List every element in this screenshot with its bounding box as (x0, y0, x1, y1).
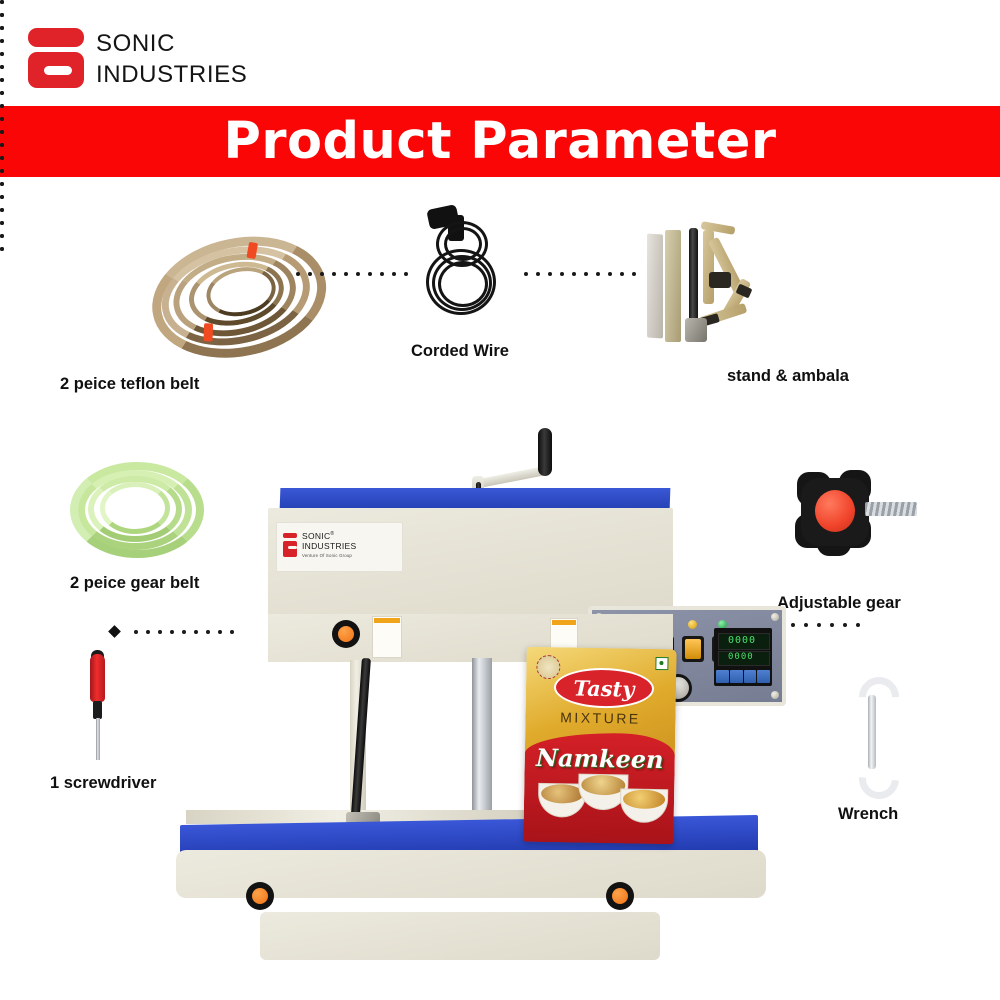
conveyor-base-stand (260, 912, 660, 960)
stand-bracket-icon (645, 222, 790, 352)
connector-stand-vertical (0, 260, 5, 520)
nameplate-logo-icon (283, 533, 297, 559)
brand-header: SONIC INDUSTRIES (0, 0, 1000, 106)
label-screwdriver: 1 screwdriver (50, 774, 156, 793)
continuous-band-sealer: SONIC® INDUSTRIES Venture Of Sonic Group (150, 420, 870, 990)
brand-line-2: INDUSTRIES (96, 59, 247, 90)
label-teflon-belt: 2 peice teflon belt (60, 375, 199, 394)
sonic-s-logo-icon (28, 28, 84, 88)
label-corded-wire: Corded Wire (411, 342, 509, 361)
nameplate-text: SONIC® INDUSTRIES (302, 529, 356, 552)
page-title: Product Parameter (223, 112, 776, 171)
label-stand-ambala: stand & ambala (727, 367, 849, 386)
conveyor-knob-right[interactable] (606, 882, 634, 910)
connector-diamond-marker (108, 625, 121, 638)
machine-nameplate: SONIC® INDUSTRIES Venture Of Sonic Group (276, 522, 403, 572)
brand-name: SONIC INDUSTRIES (96, 28, 247, 90)
upper-belt-guard (280, 488, 671, 510)
teflon-belt-coil-icon (141, 225, 319, 361)
vegetarian-mark-icon (655, 657, 668, 670)
screwdriver-icon (82, 645, 112, 760)
controller-set-value: 0000 (728, 652, 754, 662)
bag-brand-text: Tasty (573, 675, 634, 701)
heater-indicator-light (688, 620, 697, 629)
height-adjust-knob[interactable] (332, 620, 360, 648)
controller-buttons[interactable] (716, 670, 770, 683)
bag-type-text: MIXTURE (525, 709, 675, 728)
bag-product-name: Namkeen (525, 743, 675, 775)
crank-grip-icon (538, 428, 552, 476)
controller-up-button[interactable] (757, 670, 770, 683)
controller-process-value: 0000 (728, 635, 756, 646)
controller-down-button[interactable] (744, 670, 757, 683)
controller-shift-button[interactable] (730, 670, 743, 683)
connector-teflon-to-cord (296, 272, 406, 277)
infographic-page: SONIC INDUSTRIES Product Parameter 2 pei… (0, 0, 1000, 1000)
controller-set-button[interactable] (716, 670, 729, 683)
title-banner: Product Parameter (0, 106, 1000, 177)
heater-switch[interactable] (682, 636, 704, 662)
connector-wrench-vertical (0, 520, 5, 562)
nameplate-tagline: Venture Of Sonic Group (302, 553, 352, 558)
connector-cord-to-stand (524, 272, 644, 277)
power-cord-icon (412, 205, 508, 315)
conveyor-knob-left[interactable] (246, 882, 274, 910)
brand-line-1: SONIC (96, 28, 247, 59)
temperature-controller[interactable]: 0000 0000 (714, 628, 772, 686)
product-bag: Tasty MIXTURE Namkeen (523, 647, 676, 845)
sealer-head-housing: SONIC® INDUSTRIES Venture Of Sonic Group (268, 508, 673, 620)
warning-label-left (372, 616, 402, 658)
